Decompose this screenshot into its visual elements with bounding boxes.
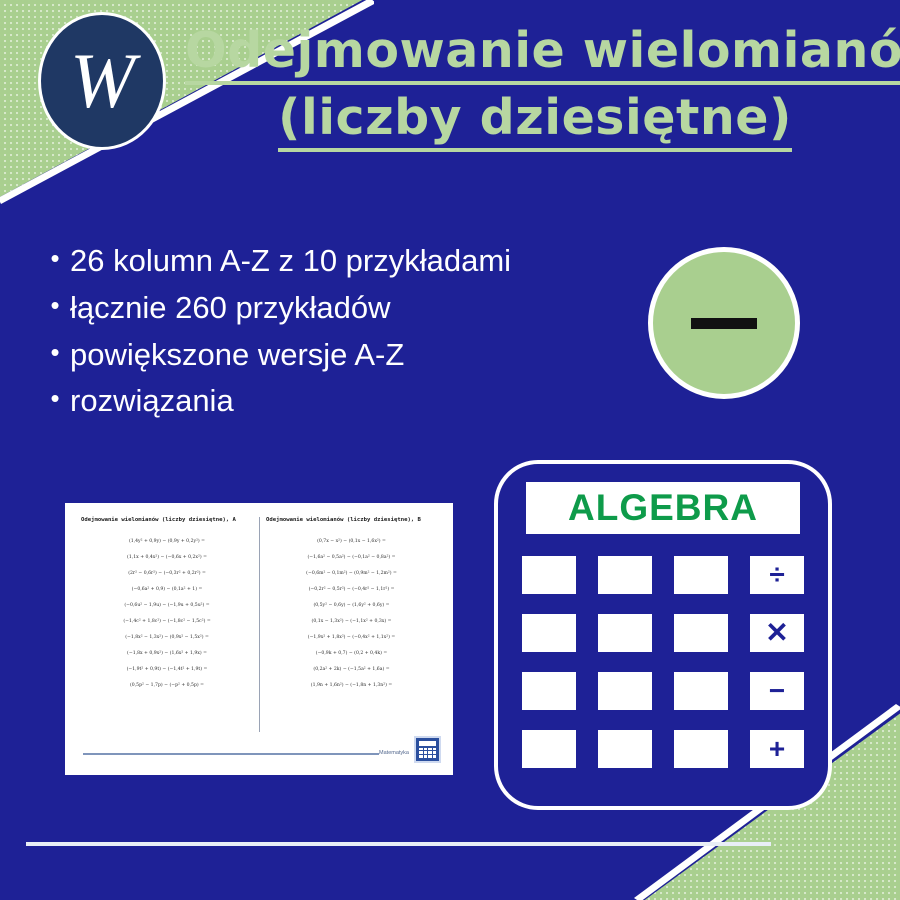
bottom-divider bbox=[26, 842, 771, 846]
calculator-icon-key bbox=[419, 755, 423, 758]
page-title-line-1: Odejmowanie wielomianów bbox=[185, 22, 900, 85]
calculator-key-blank[interactable] bbox=[598, 730, 652, 768]
calculator-icon-key bbox=[428, 751, 432, 754]
worksheet-equation: (1,9n + 1,6n²) − (−1,8n + 1,3n²) = bbox=[266, 683, 437, 688]
calculator-key-blank[interactable] bbox=[598, 556, 652, 594]
worksheet-equation: (−0,9k + 0,7) − (0,2 + 0,4k) = bbox=[266, 651, 437, 656]
calculator-illustration: ALGEBRA ÷ ✕ − + bbox=[494, 460, 832, 810]
calculator-icon-key bbox=[428, 748, 432, 751]
calculator-icon-keys bbox=[419, 748, 436, 759]
logo-letter: W bbox=[70, 42, 134, 120]
worksheet-equation: (0,2a² + 2k) − (−1,5a² + 1,6a) = bbox=[266, 667, 437, 672]
bullet-marker-icon: • bbox=[40, 240, 70, 278]
calculator-icon-key bbox=[424, 748, 428, 751]
calculator-key-blank[interactable] bbox=[598, 614, 652, 652]
worksheet-column-a: Odejmowanie wielomianów (liczby dziesięt… bbox=[75, 517, 259, 732]
worksheet-equation: (2r² − 0,6r²) − (−0,3r² + 0,2r²) = bbox=[81, 571, 253, 576]
calculator-keypad: ÷ ✕ − + bbox=[522, 556, 804, 768]
worksheet-equation: (0,7x − x²) − (0,1x − 1,6x²) = bbox=[266, 539, 437, 544]
calculator-key-blank[interactable] bbox=[674, 730, 728, 768]
calculator-key-multiply[interactable]: ✕ bbox=[750, 614, 804, 652]
calculator-icon-screen bbox=[419, 741, 436, 746]
calculator-key-blank[interactable] bbox=[522, 672, 576, 710]
calculator-key-blank[interactable] bbox=[598, 672, 652, 710]
worksheet-equation: (−1,9t² + 0,9t) − (−1,4t² + 1,9t) = bbox=[81, 667, 253, 672]
calculator-icon-key bbox=[419, 751, 423, 754]
worksheet-equation: (−1,6a² − 0,5a²) − (−0,1a² − 0,8a²) = bbox=[266, 555, 437, 560]
calculator-display-text: ALGEBRA bbox=[568, 487, 758, 529]
calculator-icon-key bbox=[428, 755, 432, 758]
worksheet-equation: (0,1x − 1,3x²) − (−1,1x² + 0,3x) = bbox=[266, 619, 437, 624]
calculator-key-blank[interactable] bbox=[522, 556, 576, 594]
calculator-icon-key bbox=[433, 755, 437, 758]
worksheet-equation: (−0,2r² − 0,5r²) − (−0,4r² − 1,1r²) = bbox=[266, 587, 437, 592]
worksheet-equation: (1,1x + 0,4x²) − (−0,6x + 0,2x²) = bbox=[81, 555, 253, 560]
calculator-icon-key bbox=[433, 751, 437, 754]
calculator-icon-key bbox=[433, 748, 437, 751]
worksheet-column-b-title: Odejmowanie wielomianów (liczby dziesięt… bbox=[266, 517, 437, 523]
brand-logo-badge: W bbox=[38, 12, 166, 150]
worksheet-footer-rule bbox=[83, 753, 379, 755]
worksheet-columns: Odejmowanie wielomianów (liczby dziesięt… bbox=[75, 517, 443, 732]
worksheet-equation: (−1,8x + 0,9x²) − (1,6x² + 1,9x) = bbox=[81, 651, 253, 656]
worksheet-equation: (−1,9x² + 1,8x²) − (−0,4x² + 1,1x²) = bbox=[266, 635, 437, 640]
feature-bullet-list: • 26 kolumn A-Z z 10 przykładami • łączn… bbox=[40, 240, 520, 427]
calculator-key-divide[interactable]: ÷ bbox=[750, 556, 804, 594]
calculator-key-plus[interactable]: + bbox=[750, 730, 804, 768]
worksheet-preview-card: Odejmowanie wielomianów (liczby dziesięt… bbox=[65, 503, 453, 775]
list-item-label: łącznie 260 przykładów bbox=[70, 287, 520, 330]
calculator-display: ALGEBRA bbox=[526, 482, 800, 534]
worksheet-equation: (−1,8x² − 1,3x²) − (0,9x² − 1,5x²) = bbox=[81, 635, 253, 640]
worksheet-equation: (−0,6a² + 0,9) − (0,1a² + 1) = bbox=[81, 587, 253, 592]
page-title-line-2: (liczby dziesiętne) bbox=[278, 89, 792, 152]
calculator-icon-key bbox=[424, 755, 428, 758]
list-item-label: rozwiązania bbox=[70, 380, 520, 423]
list-item-label: powiększone wersje A-Z bbox=[70, 334, 520, 377]
slide-canvas: W Odejmowanie wielomianów (liczby dziesi… bbox=[0, 0, 900, 900]
calculator-key-blank[interactable] bbox=[522, 730, 576, 768]
calculator-key-blank[interactable] bbox=[522, 614, 576, 652]
calculator-key-blank[interactable] bbox=[674, 614, 728, 652]
list-item: • powiększone wersje A-Z bbox=[40, 334, 520, 377]
worksheet-equation: (−1,4c² + 1,8c²) − (−1,8c² − 1,5c²) = bbox=[81, 619, 253, 624]
calculator-key-minus[interactable]: − bbox=[750, 672, 804, 710]
worksheet-column-a-title: Odejmowanie wielomianów (liczby dziesięt… bbox=[81, 517, 253, 523]
worksheet-equation: (0,5p² − 1,7p) − (−p² + 0,5p) = bbox=[81, 683, 253, 688]
list-item: • rozwiązania bbox=[40, 380, 520, 423]
minus-icon bbox=[691, 318, 757, 329]
worksheet-equation: (−0,6m² − 0,1m²) − (0,9m² − 1,2m²) = bbox=[266, 571, 437, 576]
worksheet-column-b: Odejmowanie wielomianów (liczby dziesięt… bbox=[259, 517, 443, 732]
calculator-key-blank[interactable] bbox=[674, 672, 728, 710]
worksheet-equation: (1,4y² + 0,9y) − (0,9y + 0,2y²) = bbox=[81, 539, 253, 544]
worksheet-equation: (−0,6u² − 1,9u) − (−1,9u + 0,5u²) = bbox=[81, 603, 253, 608]
worksheet-subject-label: Matematyka bbox=[379, 750, 409, 756]
worksheet-footer: Matematyka bbox=[83, 736, 441, 763]
calculator-icon-key bbox=[419, 748, 423, 751]
list-item-label: 26 kolumn A-Z z 10 przykładami bbox=[70, 240, 520, 283]
calculator-icon-key bbox=[424, 751, 428, 754]
bullet-marker-icon: • bbox=[40, 287, 70, 325]
list-item: • 26 kolumn A-Z z 10 przykładami bbox=[40, 240, 520, 283]
page-title: Odejmowanie wielomianów (liczby dziesięt… bbox=[185, 22, 885, 152]
calculator-key-blank[interactable] bbox=[674, 556, 728, 594]
list-item: • łącznie 260 przykładów bbox=[40, 287, 520, 330]
minus-operation-badge bbox=[648, 247, 800, 399]
bullet-marker-icon: • bbox=[40, 380, 70, 418]
worksheet-equation: (0,5y² − 0,6y) − (1,6y² + 0,6y) = bbox=[266, 603, 437, 608]
bullet-marker-icon: • bbox=[40, 334, 70, 372]
calculator-icon bbox=[414, 736, 441, 763]
